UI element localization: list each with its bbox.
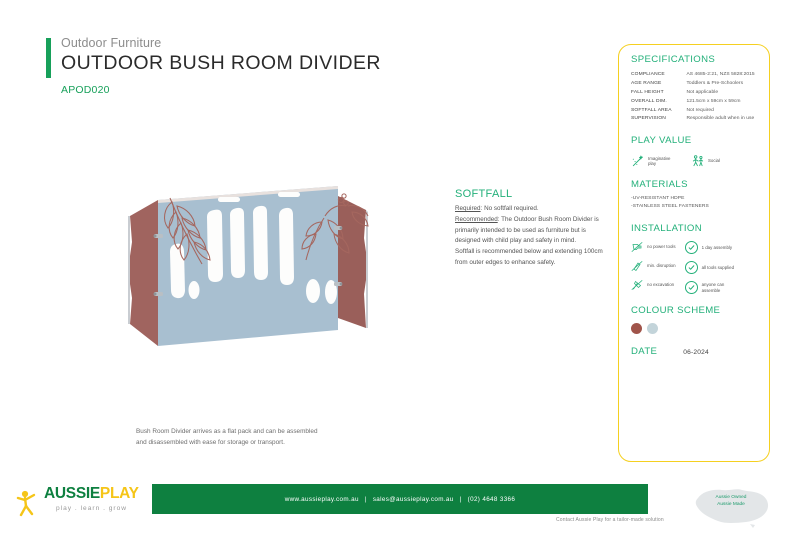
spec-key: COMPLIANCE <box>631 71 686 80</box>
softfall-required-value: No softfall required. <box>484 205 539 212</box>
softfall-section: SOFTFALL Required: No softfall required.… <box>455 188 603 269</box>
spec-key: FALL HEIGHT <box>631 89 686 98</box>
installation-item: min. disruption <box>631 260 676 272</box>
header-accent-bar <box>46 38 51 78</box>
installation-item: all tools supplied <box>685 261 736 274</box>
softfall-note: Softfall is recommended below and extend… <box>455 248 603 266</box>
softfall-heading: SOFTFALL <box>455 188 603 200</box>
play-value-item: Social <box>691 154 720 168</box>
play-value-heading: PLAY VALUE <box>631 135 757 146</box>
check-circle-icon <box>685 241 698 254</box>
aussie-made-badge: Aussie Owned Aussie Made <box>676 484 786 530</box>
installation-left-column: no power tools min. disruption <box>631 241 676 294</box>
spec-key: OVERALL DIM. <box>631 97 686 106</box>
materials-section: MATERIALS -UV-RESISTANT HDPE -STAINLESS … <box>631 179 757 212</box>
colour-swatch <box>631 323 642 334</box>
spec-value: Toddlers & Pre-Schoolers <box>686 80 757 89</box>
product-caption: Bush Room Divider arrives as a flat pack… <box>136 427 326 448</box>
spec-value: AS 4685-2:21, NZS 5828:2015 <box>686 71 757 80</box>
footer-website[interactable]: www.aussieplay.com.au <box>285 496 359 503</box>
installation-label: 1 day assembly <box>702 245 733 251</box>
logo-name-secondary: PLAY <box>100 485 139 502</box>
installation-item: anyone can assemble <box>685 281 736 294</box>
installation-section: INSTALLATION no power tools <box>631 223 757 294</box>
material-item: -STAINLESS STEEL FASTENERS <box>631 203 757 212</box>
specifications-table: COMPLIANCE AS 4685-2:21, NZS 5828:2015 A… <box>631 71 757 124</box>
softfall-recommended-label: Recommended <box>455 216 498 223</box>
table-row: AGE RANGE Toddlers & Pre-Schoolers <box>631 80 757 89</box>
spec-value: Not required <box>686 106 757 115</box>
no-power-tools-icon <box>631 241 643 253</box>
page-header: Outdoor Furniture OUTDOOR BUSH ROOM DIVI… <box>46 36 381 96</box>
footer-tagline: Contact Aussie Play for a tailor-made so… <box>556 517 664 523</box>
colour-scheme-section: COLOUR SCHEME <box>631 305 757 334</box>
left-side-panel <box>128 200 158 346</box>
table-row: COMPLIANCE AS 4685-2:21, NZS 5828:2015 <box>631 71 757 80</box>
specifications-card: SPECIFICATIONS COMPLIANCE AS 4685-2:21, … <box>618 44 770 462</box>
spec-key: AGE RANGE <box>631 80 686 89</box>
magic-wand-icon <box>631 154 645 168</box>
installation-heading: INSTALLATION <box>631 223 757 234</box>
play-value-label: Social <box>708 158 720 163</box>
page-title: OUTDOOR BUSH ROOM DIVIDER <box>61 52 381 75</box>
installation-label: min. disruption <box>647 263 676 269</box>
logo-figure-icon <box>16 488 42 518</box>
colour-swatch <box>647 323 658 334</box>
specifications-heading: SPECIFICATIONS <box>631 54 757 65</box>
footer-email[interactable]: sales@aussieplay.com.au <box>373 496 454 503</box>
table-row: SUPERVISION Responsible adult when in us… <box>631 115 757 124</box>
badge-line-2: Aussie Made <box>717 502 745 507</box>
product-image <box>110 178 420 403</box>
installation-right-column: 1 day assembly all tools supplied anyone… <box>685 241 736 294</box>
installation-label: anyone can assemble <box>702 282 736 293</box>
installation-label: all tools supplied <box>702 265 734 271</box>
spec-value: 121.5cm x 59cm x 59cm <box>686 97 757 106</box>
material-item: -UV-RESISTANT HDPE <box>631 195 757 204</box>
product-category: Outdoor Furniture <box>61 36 381 50</box>
product-sku: APOD020 <box>61 84 381 96</box>
no-excavation-icon <box>631 279 643 291</box>
spec-key: SOFTFALL AREA <box>631 106 686 115</box>
spec-value: Responsible adult when in use <box>686 115 757 124</box>
logo-name-primary: AUSSIE <box>44 485 100 502</box>
materials-heading: MATERIALS <box>631 179 757 190</box>
footer-contact: www.aussieplay.com.au | sales@aussieplay… <box>152 484 648 514</box>
installation-item: no power tools <box>631 241 676 253</box>
date-label: DATE <box>631 346 657 357</box>
colour-scheme-heading: COLOUR SCHEME <box>631 305 757 316</box>
date-value: 06-2024 <box>683 349 709 356</box>
installation-label: no power tools <box>647 244 676 250</box>
footer-separator: | <box>460 496 462 503</box>
spec-value: Not applicable <box>686 89 757 98</box>
logo-tagline: play . learn . grow <box>56 505 146 512</box>
installation-item: no excavation <box>631 279 676 291</box>
check-circle-icon <box>685 261 698 274</box>
softfall-required-label: Required <box>455 205 481 212</box>
date-section: DATE 06-2024 <box>631 346 757 357</box>
badge-line-1: Aussie Owned <box>716 495 747 500</box>
installation-item: 1 day assembly <box>685 241 736 254</box>
play-value-label: Imaginative play <box>648 156 674 167</box>
table-row: OVERALL DIM. 121.5cm x 59cm x 59cm <box>631 97 757 106</box>
play-value-section: PLAY VALUE Imaginative play <box>631 135 757 168</box>
footer-phone[interactable]: (02) 4648 3366 <box>468 496 516 503</box>
no-disruption-icon <box>631 260 643 272</box>
social-figures-icon <box>691 154 705 168</box>
installation-label: no excavation <box>647 282 674 288</box>
spec-key: SUPERVISION <box>631 115 686 124</box>
table-row: SOFTFALL AREA Not required <box>631 106 757 115</box>
footer-separator: | <box>365 496 367 503</box>
check-circle-icon <box>685 281 698 294</box>
table-row: FALL HEIGHT Not applicable <box>631 89 757 98</box>
company-logo: AUSSIEPLAY play . learn . grow <box>14 486 146 512</box>
play-value-item: Imaginative play <box>631 154 674 168</box>
